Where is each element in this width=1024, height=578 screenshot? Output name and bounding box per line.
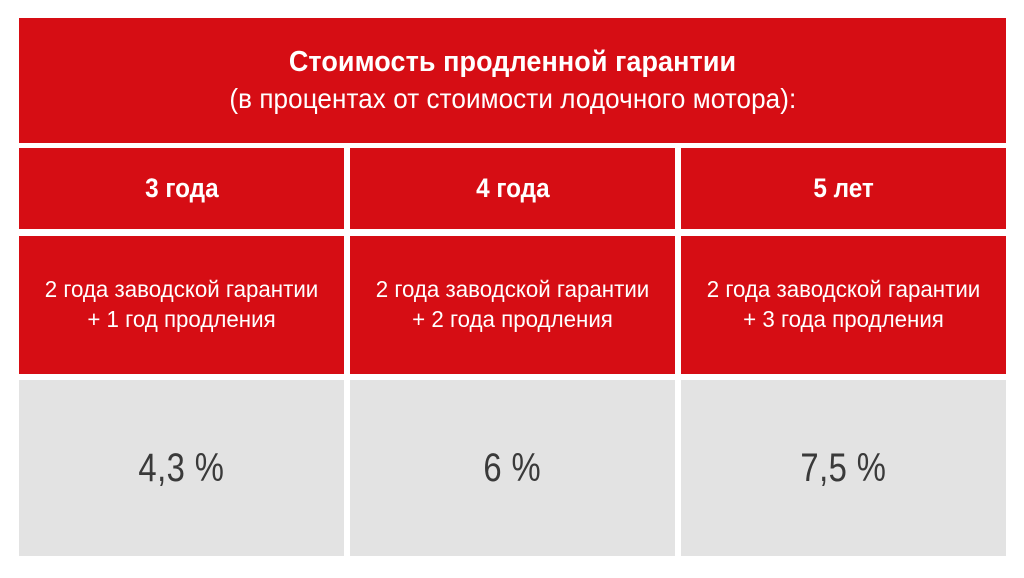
period-header-cell-2: 4 года: [350, 148, 675, 229]
percent-row: 4,3 % 6 % 7,5 %: [19, 380, 1006, 556]
period-label-3: 5 лет: [813, 173, 873, 204]
period-label-2: 4 года: [476, 173, 550, 204]
description-text-3: 2 года заводской гарантии + 3 года продл…: [699, 275, 987, 335]
table-title-banner: Стоимость продленной гарантии (в процент…: [19, 18, 1006, 143]
table-title-primary: Стоимость продленной гарантии: [289, 46, 736, 80]
percent-cell-2: 6 %: [350, 380, 675, 556]
period-header-cell-3: 5 лет: [681, 148, 1006, 229]
percent-value-1: 4,3 %: [139, 446, 225, 491]
table-title-secondary: (в процентах от стоимости лодочного мото…: [229, 83, 796, 115]
period-header-row: 3 года 4 года 5 лет: [19, 148, 1006, 229]
description-cell-1: 2 года заводской гарантии + 1 год продле…: [19, 236, 344, 374]
warranty-price-table: Стоимость продленной гарантии (в процент…: [19, 18, 1006, 557]
description-cell-3: 2 года заводской гарантии + 3 года продл…: [681, 236, 1006, 374]
description-text-1: 2 года заводской гарантии + 1 год продле…: [37, 275, 325, 335]
percent-cell-3: 7,5 %: [681, 380, 1006, 556]
period-header-cell-1: 3 года: [19, 148, 344, 229]
percent-cell-1: 4,3 %: [19, 380, 344, 556]
description-text-2: 2 года заводской гарантии + 2 года продл…: [368, 275, 656, 335]
description-row: 2 года заводской гарантии + 1 год продле…: [19, 236, 1006, 374]
percent-value-3: 7,5 %: [801, 446, 887, 491]
row-divider: [19, 229, 1006, 236]
period-label-1: 3 года: [145, 173, 219, 204]
description-cell-2: 2 года заводской гарантии + 2 года продл…: [350, 236, 675, 374]
percent-value-2: 6 %: [484, 446, 542, 491]
